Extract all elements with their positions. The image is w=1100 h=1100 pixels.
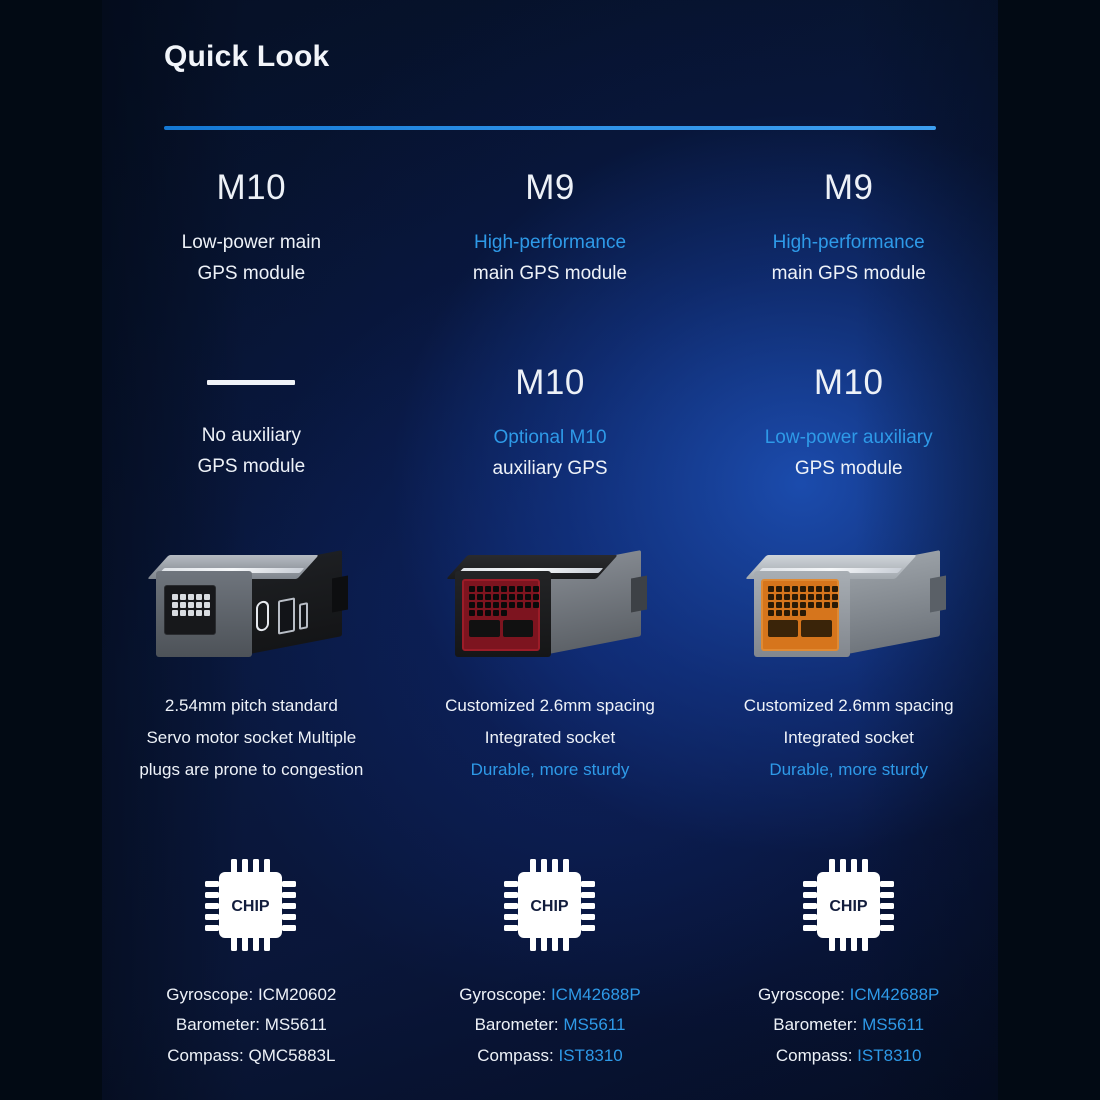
chip-cell-1: CHIP	[102, 855, 401, 955]
main-desc-line1: High-performance	[401, 227, 700, 258]
spec-label: Compass:	[776, 1046, 853, 1065]
caption-row: 2.54mm pitch standard Servo motor socket…	[102, 690, 998, 786]
main-desc: Low-power main GPS module	[102, 227, 401, 290]
spec-value: MS5611	[563, 1015, 625, 1034]
caption-cell-1: 2.54mm pitch standard Servo motor socket…	[102, 690, 401, 786]
col-2-aux-gps: M10 Optional M10 auxiliary GPS	[401, 365, 700, 560]
chip-icon-label: CHIP	[530, 898, 569, 915]
no-model-dash-icon	[207, 380, 295, 385]
page-title: Quick Look	[164, 40, 329, 74]
spec-value: ICM42688P	[551, 985, 641, 1004]
chip-icon-row: CHIP	[102, 855, 998, 955]
caption-line3: Durable, more sturdy	[709, 754, 988, 786]
sensor-spec-row: Gyroscope: ICM20602 Barometer: MS5611 Co…	[102, 980, 998, 1071]
main-desc-line1: Low-power main	[102, 227, 401, 258]
spec-value: IST8310	[559, 1046, 623, 1065]
aux-desc-line2: GPS module	[699, 453, 998, 484]
chip-icon: CHIP	[801, 855, 897, 955]
side-port-2-icon	[299, 602, 308, 630]
spec-value: ICM20602	[258, 985, 336, 1004]
caption-line2: Servo motor socket Multiple	[112, 722, 391, 754]
product-photo-cell-1	[102, 545, 401, 680]
aux-desc: Optional M10 auxiliary GPS	[401, 422, 700, 485]
caption-cell-2: Customized 2.6mm spacing Integrated sock…	[401, 690, 700, 786]
spec-barometer: Barometer: MS5611	[699, 1010, 998, 1040]
auxiliary-gps-row: No auxiliary GPS module M10 Optional M10…	[102, 365, 998, 560]
spec-cell-3: Gyroscope: ICM42688P Barometer: MS5611 C…	[699, 980, 998, 1071]
chip-cell-3: CHIP	[699, 855, 998, 955]
chip-icon-label: CHIP	[232, 898, 271, 915]
product-image-red-socket	[455, 553, 645, 665]
caption-line3: plugs are prone to congestion	[112, 754, 391, 786]
spec-label: Compass:	[167, 1046, 244, 1065]
chip-icon-label: CHIP	[829, 898, 868, 915]
spec-value: MS5611	[265, 1015, 327, 1034]
aux-desc-line2: GPS module	[102, 451, 401, 482]
spec-gyroscope: Gyroscope: ICM20602	[102, 980, 401, 1010]
main-model-label: M10	[102, 170, 401, 205]
main-desc: High-performance main GPS module	[401, 227, 700, 290]
spec-gyroscope: Gyroscope: ICM42688P	[401, 980, 700, 1010]
spec-cell-2: Gyroscope: ICM42688P Barometer: MS5611 C…	[401, 980, 700, 1071]
product-image-standard-pin-header	[156, 553, 346, 665]
chip-cell-2: CHIP	[401, 855, 700, 955]
caption-line1: Customized 2.6mm spacing	[709, 690, 988, 722]
spec-label: Compass:	[477, 1046, 554, 1065]
col-2-main-gps: M9 High-performance main GPS module	[401, 170, 700, 370]
spec-label: Gyroscope:	[166, 985, 253, 1004]
slide-panel: Quick Look M10 Low-power main GPS module…	[102, 0, 998, 1100]
spec-cell-1: Gyroscope: ICM20602 Barometer: MS5611 Co…	[102, 980, 401, 1071]
aux-desc-line1: No auxiliary	[102, 420, 401, 451]
usb-c-port-icon	[256, 600, 269, 633]
spec-value: QMC5883L	[249, 1046, 336, 1065]
product-photo-cell-2	[401, 545, 700, 680]
col-1-main-gps: M10 Low-power main GPS module	[102, 170, 401, 370]
spec-value: MS5611	[862, 1015, 924, 1034]
spec-gyroscope: Gyroscope: ICM42688P	[699, 980, 998, 1010]
spec-barometer: Barometer: MS5611	[401, 1010, 700, 1040]
caption-cell-3: Customized 2.6mm spacing Integrated sock…	[699, 690, 998, 786]
col-3-main-gps: M9 High-performance main GPS module	[699, 170, 998, 370]
spec-compass: Compass: IST8310	[401, 1041, 700, 1071]
caption-line1: Customized 2.6mm spacing	[411, 690, 690, 722]
main-desc-line2: GPS module	[102, 258, 401, 289]
main-model-label: M9	[401, 170, 700, 205]
aux-desc-line1: Low-power auxiliary	[699, 422, 998, 453]
spec-label: Barometer:	[475, 1015, 559, 1034]
main-desc: High-performance main GPS module	[699, 227, 998, 290]
spec-value: IST8310	[857, 1046, 921, 1065]
spec-label: Barometer:	[773, 1015, 857, 1034]
main-desc-line2: main GPS module	[699, 258, 998, 289]
spec-label: Barometer:	[176, 1015, 260, 1034]
caption-line1: 2.54mm pitch standard	[112, 690, 391, 722]
spec-compass: Compass: IST8310	[699, 1041, 998, 1071]
title-divider	[164, 126, 936, 130]
side-port-icon	[278, 597, 295, 634]
aux-model-label: M10	[401, 365, 700, 400]
caption-line2: Integrated socket	[411, 722, 690, 754]
chip-icon: CHIP	[502, 855, 598, 955]
infographic-page: Quick Look M10 Low-power main GPS module…	[0, 0, 1100, 1100]
aux-desc: Low-power auxiliary GPS module	[699, 422, 998, 485]
spec-label: Gyroscope:	[459, 985, 546, 1004]
spec-value: ICM42688P	[850, 985, 940, 1004]
aux-desc-line1: Optional M10	[401, 422, 700, 453]
main-model-label: M9	[699, 170, 998, 205]
col-3-aux-gps: M10 Low-power auxiliary GPS module	[699, 365, 998, 560]
main-gps-row: M10 Low-power main GPS module M9 High-pe…	[102, 170, 998, 370]
aux-model-label: M10	[699, 365, 998, 400]
aux-desc-line2: auxiliary GPS	[401, 453, 700, 484]
main-desc-line1: High-performance	[699, 227, 998, 258]
chip-icon: CHIP	[203, 855, 299, 955]
product-photo-cell-3	[699, 545, 998, 680]
aux-desc: No auxiliary GPS module	[102, 420, 401, 483]
col-1-aux-gps: No auxiliary GPS module	[102, 365, 401, 560]
caption-line3: Durable, more sturdy	[411, 754, 690, 786]
spec-compass: Compass: QMC5883L	[102, 1041, 401, 1071]
spec-barometer: Barometer: MS5611	[102, 1010, 401, 1040]
main-desc-line2: main GPS module	[401, 258, 700, 289]
caption-line2: Integrated socket	[709, 722, 988, 754]
product-photo-row	[102, 545, 998, 680]
spec-label: Gyroscope:	[758, 985, 845, 1004]
product-image-orange-socket	[754, 553, 944, 665]
